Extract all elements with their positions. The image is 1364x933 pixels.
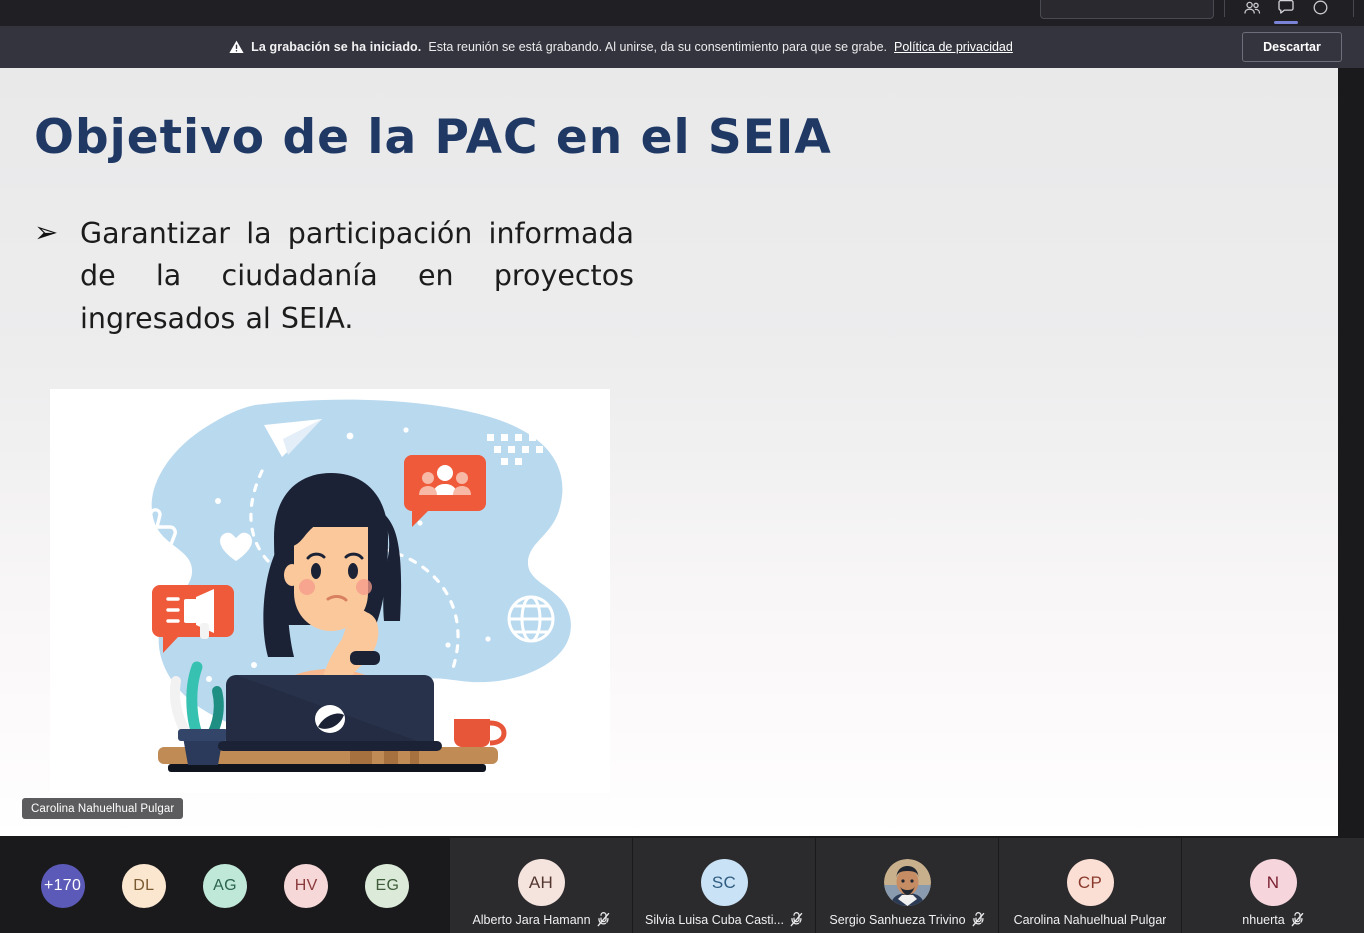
avatar	[884, 859, 931, 906]
participant-tiles: AHAlberto Jara HamannSCSilvia Luisa Cuba…	[450, 838, 1364, 933]
participant-tile[interactable]: CPCarolina Nahuelhual Pulgar	[999, 838, 1182, 933]
toolbar-divider-right	[1353, 0, 1354, 17]
participant-name: Silvia Luisa Cuba Casti...	[645, 913, 784, 927]
warning-triangle-glyph	[229, 40, 244, 54]
illustration-graphic	[50, 389, 610, 793]
more-icon[interactable]	[1303, 0, 1337, 26]
dismiss-button[interactable]: Descartar	[1242, 32, 1342, 62]
avatar-hv[interactable]: HV	[284, 864, 328, 908]
participant-tile[interactable]: Sergio Sanhueza Trivino	[816, 838, 999, 933]
recording-banner-body: Esta reunión se está grabando. Al unirse…	[428, 40, 887, 54]
avatar-dl[interactable]: DL	[122, 864, 166, 908]
ear-left	[284, 564, 300, 586]
participant-name: Alberto Jara Hamann	[472, 913, 590, 927]
chat-icon[interactable]	[1269, 0, 1303, 26]
arrow-bullet-icon: ➢	[34, 219, 68, 248]
presenter-name-chip: Carolina Nahuelhual Pulgar	[22, 798, 183, 819]
recording-banner-title: La grabación se ha iniciado.	[251, 40, 421, 54]
people-icon[interactable]	[1235, 0, 1269, 26]
people-icon-glyph	[1244, 1, 1261, 14]
avatar: AH	[518, 859, 565, 906]
presentation-slide[interactable]: Objetivo de la PAC en el SEIA ➢ Garantiz…	[0, 68, 1338, 836]
participant-name: Sergio Sanhueza Trivino	[829, 913, 965, 927]
participant-tile[interactable]: SCSilvia Luisa Cuba Casti...	[633, 838, 816, 933]
participant-name: nhuerta	[1242, 913, 1284, 927]
participant-footer: Silvia Luisa Cuba Casti...	[633, 912, 815, 927]
blush-left	[299, 579, 315, 595]
participant-footer: Alberto Jara Hamann	[450, 912, 632, 927]
search-input[interactable]	[1040, 0, 1214, 19]
slide-title: Objetivo de la PAC en el SEIA	[34, 110, 832, 165]
more-icon-glyph	[1313, 0, 1328, 15]
eye-right	[348, 563, 358, 579]
avatar: CP	[1067, 859, 1114, 906]
warning-triangle-icon	[229, 40, 244, 54]
wristwatch	[350, 651, 380, 665]
participant-tile[interactable]: Nnhuerta	[1182, 838, 1364, 933]
active-tab-indicator	[1274, 21, 1298, 24]
avatar: N	[1250, 859, 1297, 906]
overflow-avatar-group[interactable]: +170DLAGHVEG	[0, 838, 450, 933]
participant-footer: Carolina Nahuelhual Pulgar	[999, 913, 1181, 927]
participant-filmstrip: +170DLAGHVEG AHAlberto Jara HamannSCSilv…	[0, 838, 1364, 933]
privacy-policy-link[interactable]: Política de privacidad	[894, 40, 1013, 54]
laptop	[218, 675, 442, 751]
app-top-toolbar	[0, 0, 1364, 26]
microphone-muted-icon	[790, 912, 803, 927]
woman-at-laptop-illustration	[50, 389, 610, 793]
overflow-count-avatar[interactable]: +170	[41, 864, 85, 908]
participant-footer: Sergio Sanhueza Trivino	[816, 912, 998, 927]
microphone-muted-icon	[1291, 912, 1304, 927]
avatar-eg[interactable]: EG	[365, 864, 409, 908]
toolbar-divider	[1224, 0, 1225, 17]
blush-right	[356, 579, 372, 595]
hand	[348, 610, 372, 636]
participant-tile[interactable]: AHAlberto Jara Hamann	[450, 838, 633, 933]
avatar-ag[interactable]: AG	[203, 864, 247, 908]
eye-left	[311, 563, 321, 579]
microphone-muted-icon	[597, 912, 610, 927]
avatar: SC	[701, 859, 748, 906]
participant-name: Carolina Nahuelhual Pulgar	[1014, 913, 1167, 927]
participant-footer: nhuerta	[1182, 912, 1364, 927]
chat-icon-glyph	[1278, 0, 1294, 14]
recording-banner-message: La grabación se ha iniciado. Esta reunió…	[0, 40, 1242, 54]
microphone-muted-icon	[972, 912, 985, 927]
shared-content-stage[interactable]: Objetivo de la PAC en el SEIA ➢ Garantiz…	[0, 68, 1364, 838]
slide-bullet-text: Garantizar la participación informada de…	[80, 213, 634, 340]
slide-bullet: ➢ Garantizar la participación informada …	[34, 213, 634, 340]
recording-banner: La grabación se ha iniciado. Esta reunió…	[0, 26, 1364, 68]
